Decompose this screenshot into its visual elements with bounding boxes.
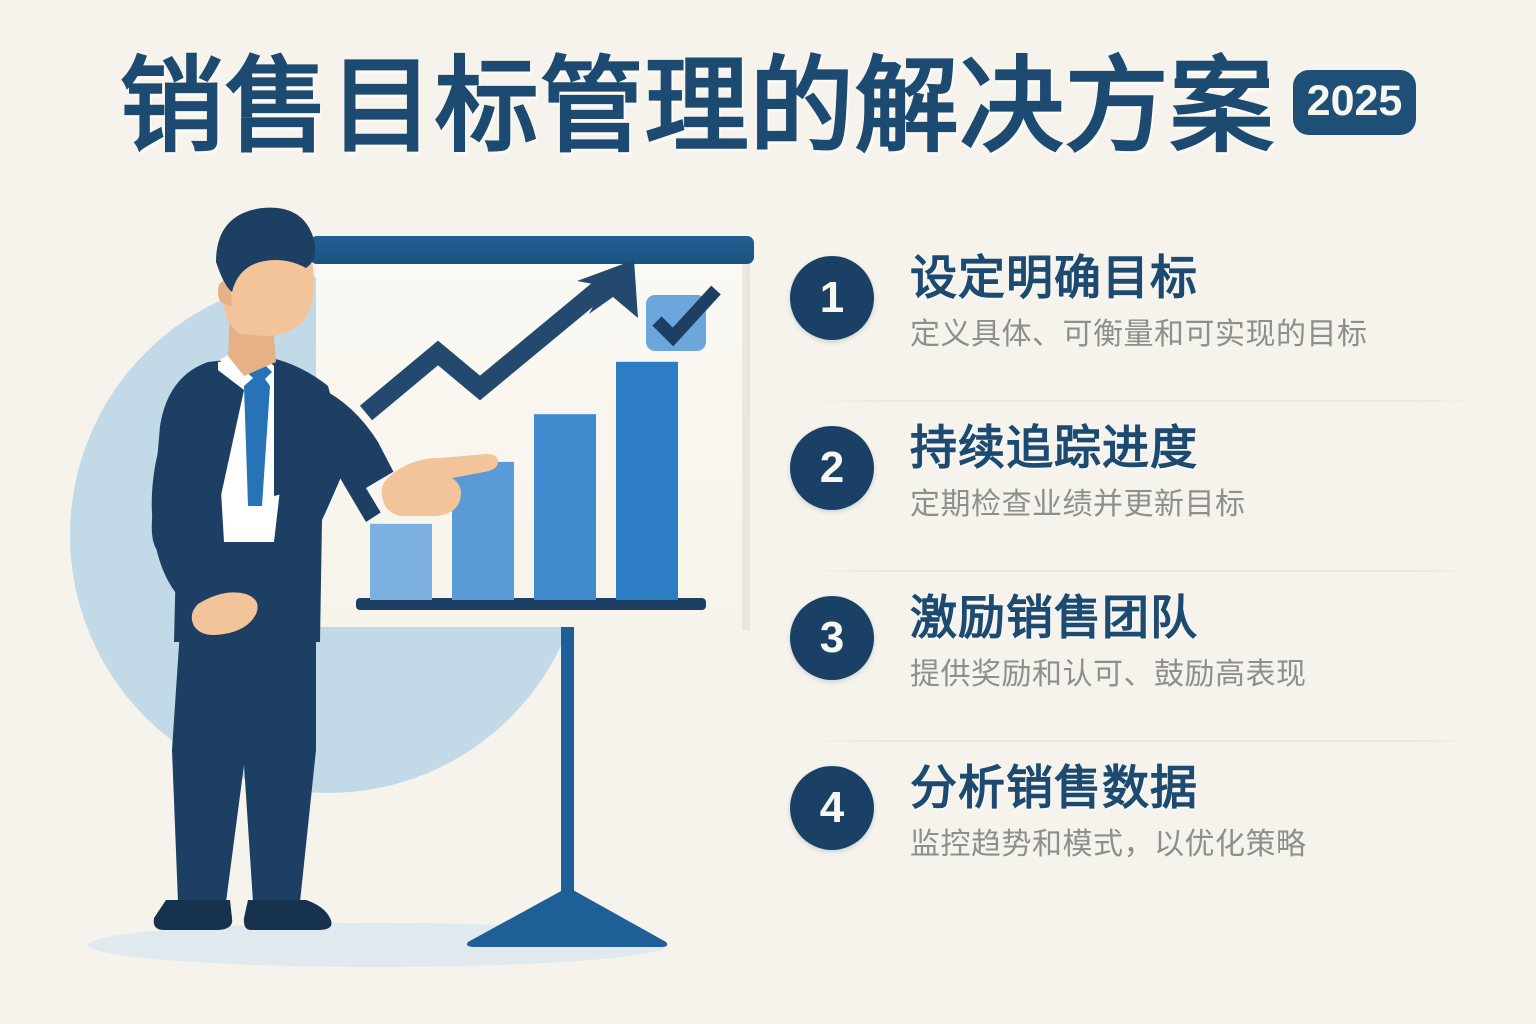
- year-badge: 2025: [1293, 70, 1417, 135]
- step-number-badge-3: 3: [790, 596, 874, 680]
- illustration-businessman-chart: [48, 190, 768, 990]
- whiteboard-top-bar: [310, 236, 754, 264]
- step-heading-2: 持续追踪进度: [910, 422, 1246, 475]
- figure-shoe-left: [154, 900, 232, 930]
- chart-bar-4: [616, 362, 678, 600]
- step-number-badge-1: 1: [790, 256, 874, 340]
- step-item-2[interactable]: 2 持续追踪进度 定期检查业绩并更新目标: [790, 402, 1490, 572]
- step-item-1[interactable]: 1 设定明确目标 定义具体、可衡量和可实现的目标: [790, 232, 1490, 402]
- step-description-2: 定期检查业绩并更新目标: [910, 487, 1246, 523]
- step-heading-3: 激励销售团队: [910, 592, 1307, 645]
- step-heading-1: 设定明确目标: [910, 252, 1368, 305]
- figure-shoe-right: [244, 900, 332, 930]
- step-description-3: 提供奖励和认可、鼓励高表现: [910, 657, 1307, 693]
- chart-bar-3: [534, 414, 596, 600]
- step-item-4[interactable]: 4 分析销售数据 监控趋势和模式，以优化策略: [790, 742, 1490, 912]
- step-item-3[interactable]: 3 激励销售团队 提供奖励和认可、鼓励高表现: [790, 572, 1490, 742]
- board-stand-foot: [467, 890, 667, 947]
- step-description-4: 监控趋势和模式，以优化策略: [910, 827, 1307, 863]
- chart-bar-2: [452, 462, 514, 600]
- steps-list: 1 设定明确目标 定义具体、可衡量和可实现的目标 2 持续追踪进度 定期检查业绩…: [790, 232, 1490, 912]
- step-number-badge-4: 4: [790, 766, 874, 850]
- step-heading-4: 分析销售数据: [910, 762, 1307, 815]
- whiteboard-panel-shadow: [742, 260, 750, 630]
- page-title: 销售目标管理的解决方案: [120, 55, 1275, 159]
- header-banner: 销售目标管理的解决方案 2025: [0, 0, 1536, 205]
- step-number-badge-2: 2: [790, 426, 874, 510]
- chart-bar-1: [370, 524, 432, 600]
- step-description-1: 定义具体、可衡量和可实现的目标: [910, 317, 1368, 353]
